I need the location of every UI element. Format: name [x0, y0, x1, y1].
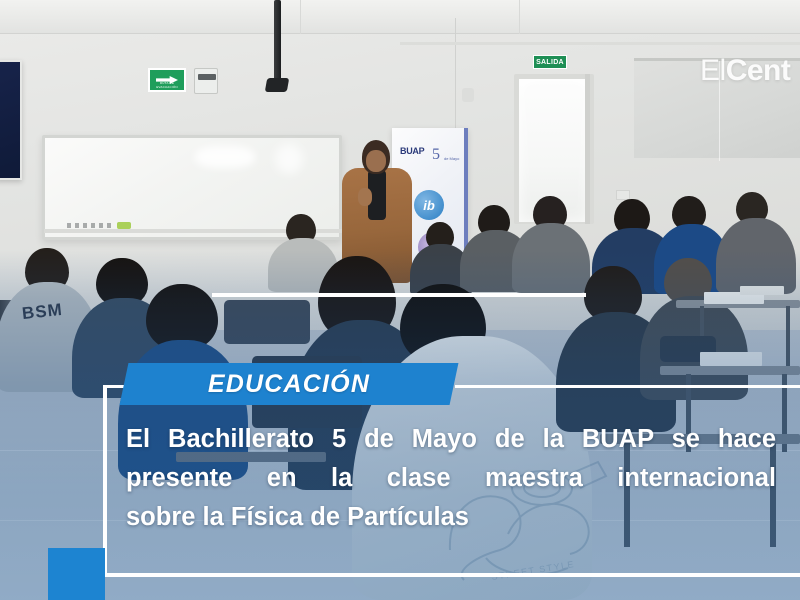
watermark-bold: Cent	[726, 54, 791, 87]
divider-line-top	[212, 293, 586, 297]
student-body	[512, 223, 590, 293]
notebook	[700, 352, 762, 366]
category-badge-label[interactable]: EDUCACIÓN	[124, 363, 454, 405]
headline-line-3: sobre la Física de Partículas	[126, 498, 776, 537]
svg-text:STREET STYLE: STREET STYLE	[491, 559, 576, 582]
watermark-light: El	[700, 54, 726, 87]
paper-sheet	[740, 286, 784, 295]
blue-accent-block	[48, 548, 105, 600]
news-card: RUTA DE EVACUACIÓN SALIDA BUAP 5 de Mayo…	[0, 0, 800, 600]
desk-leg	[786, 306, 790, 368]
desk-top	[660, 366, 800, 375]
divider-line-badge-right	[455, 385, 800, 388]
headline-line-2: presente en la clase maestra internacion…	[126, 459, 776, 498]
article-headline[interactable]: El Bachillerato 5 de Mayo de la BUAP se …	[126, 420, 776, 537]
student-shirt-text-2: BSM	[21, 300, 64, 324]
chair-back	[224, 300, 310, 344]
divider-line-bottom	[103, 573, 800, 577]
site-watermark: ElCent	[700, 54, 790, 88]
headline-line-1: El Bachillerato 5 de Mayo de la BUAP se …	[126, 420, 776, 459]
student-body	[716, 218, 796, 294]
